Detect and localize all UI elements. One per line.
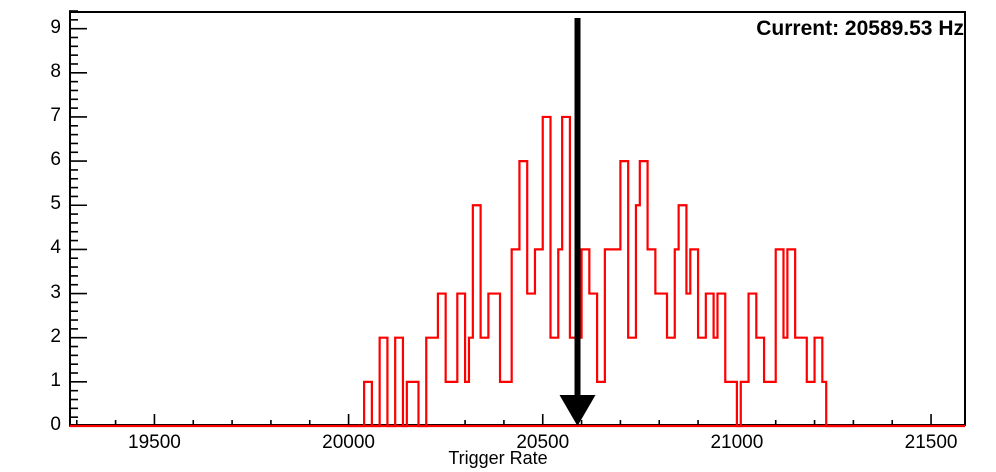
y-tick-label: 1 <box>27 370 61 392</box>
y-tick-label: 5 <box>27 193 61 215</box>
plot-frame <box>69 11 966 426</box>
y-tick-label: 9 <box>27 17 61 39</box>
x-axis-title: Trigger Rate <box>0 448 996 469</box>
y-tick-label: 4 <box>27 237 61 259</box>
current-rate-label: Current: 20589.53 Hz <box>756 17 964 41</box>
histogram-canvas: 0123456789 1950020000205002100021500 Tri… <box>0 0 996 472</box>
y-tick-label: 7 <box>27 105 61 127</box>
y-tick-label: 6 <box>27 149 61 171</box>
y-tick-label: 0 <box>27 414 61 436</box>
y-tick-label: 3 <box>27 282 61 304</box>
y-tick-label: 8 <box>27 61 61 83</box>
y-tick-label: 2 <box>27 326 61 348</box>
